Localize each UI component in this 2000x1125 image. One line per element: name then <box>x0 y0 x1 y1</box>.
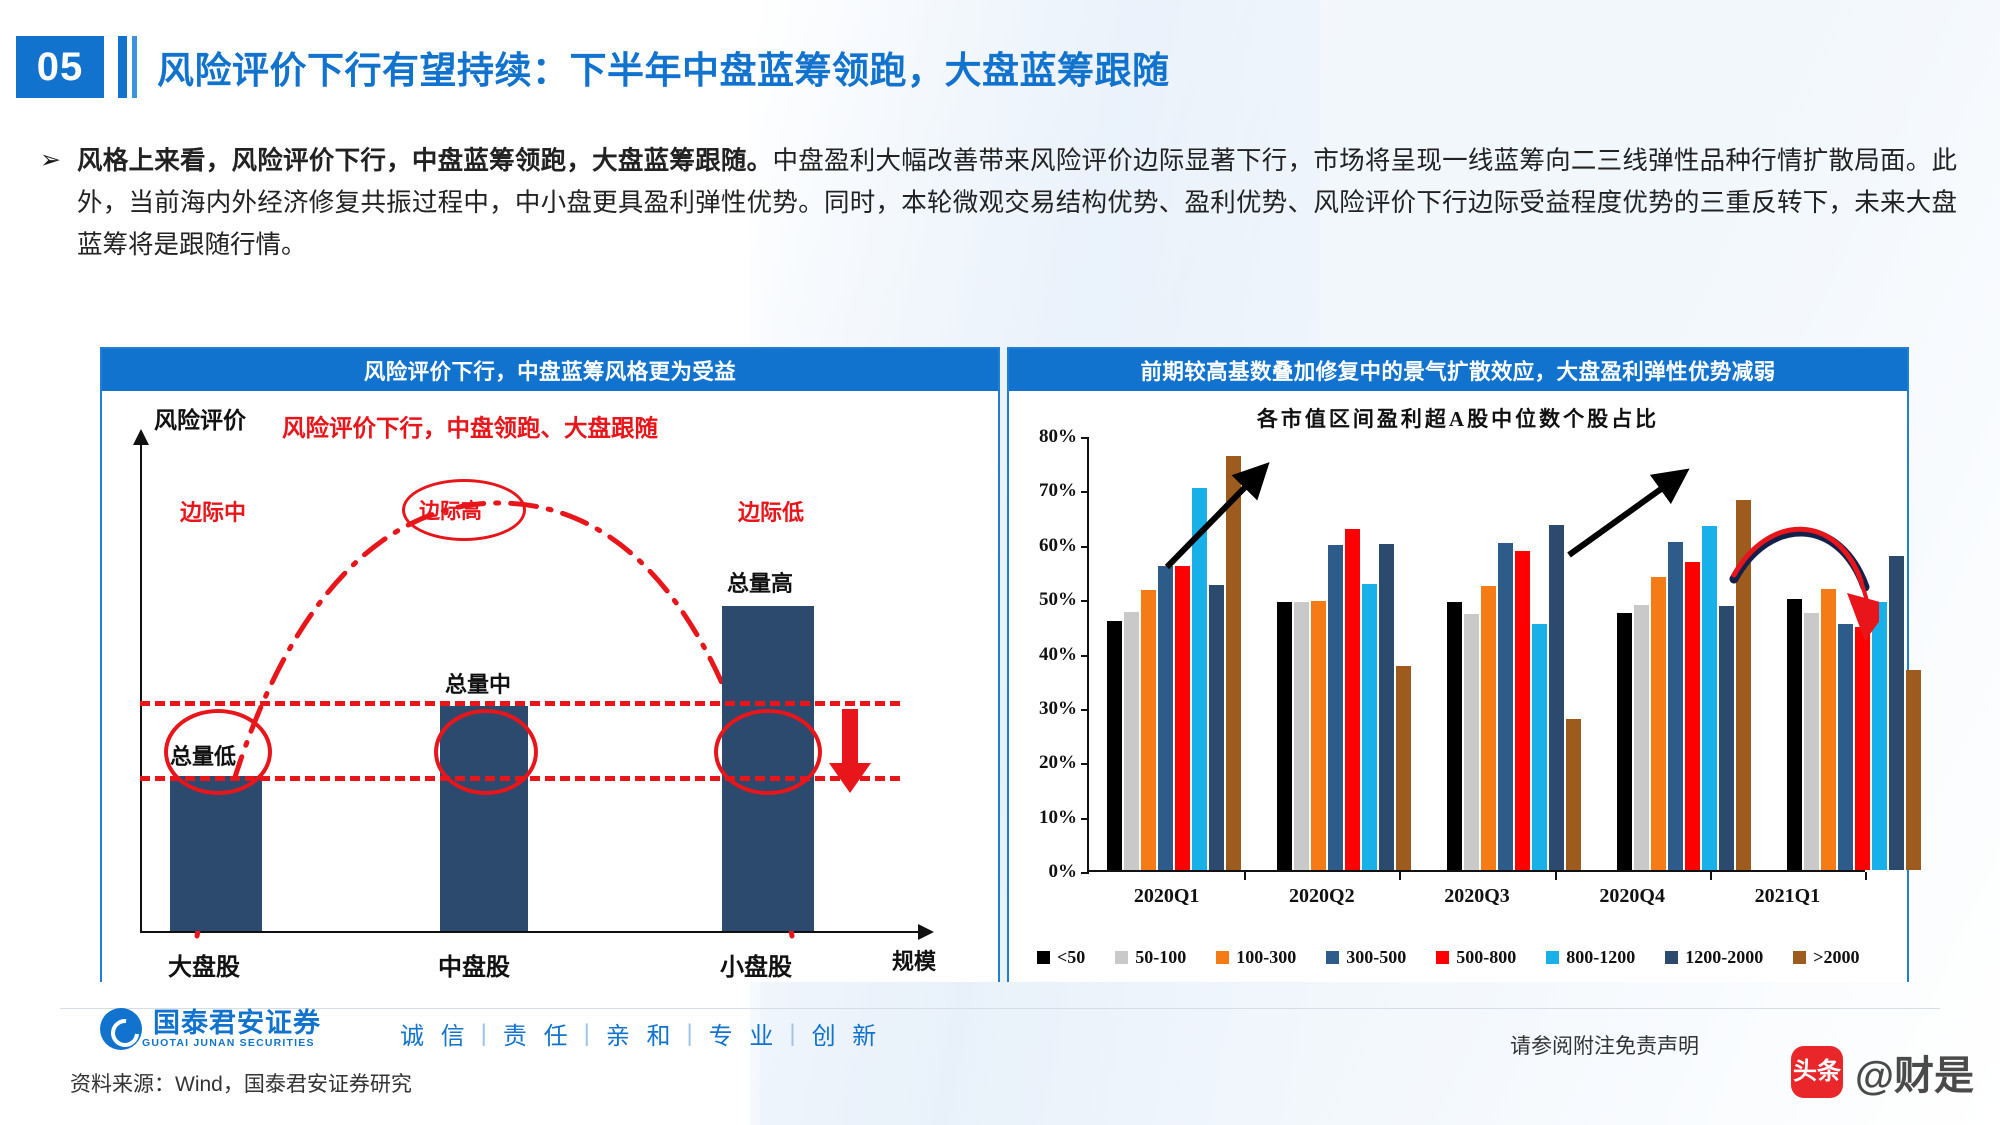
y-tick-label: 0% <box>1049 861 1090 883</box>
legend-item[interactable]: 1200-2000 <box>1665 947 1763 968</box>
y-tick-label: 30% <box>1039 698 1089 720</box>
bar-500-800 <box>1855 627 1870 870</box>
legend-swatch-icon <box>1037 951 1050 964</box>
body-block: ➢ 风格上来看，风险评价下行，中盘蓝筹领跑，大盘蓝筹跟随。中盘盈利大幅改善带来风… <box>40 140 1970 266</box>
x-axis-tick <box>1244 872 1246 880</box>
legend-swatch-icon <box>1793 951 1806 964</box>
bar-800-1200 <box>1532 624 1547 870</box>
legend-swatch-icon <box>1326 951 1339 964</box>
logo-name-en: GUOTAI JUNAN SECURITIES <box>142 1037 321 1049</box>
bar-300-500 <box>1838 624 1853 870</box>
bar-800-1200 <box>1192 488 1207 870</box>
left-panel-heading: 风险评价下行，中盘蓝筹风格更为受益 <box>102 349 998 391</box>
x-tick-label: 2020Q4 <box>1599 885 1665 908</box>
concept-bar-large-cap <box>170 776 262 931</box>
x-tick-small-cap: 小盘股 <box>720 947 792 982</box>
header-rule-thick <box>118 36 127 98</box>
page-title: 风险评价下行有望持续：下半年中盘蓝筹领跑，大盘蓝筹跟随 <box>157 40 1170 94</box>
y-tick-label: 70% <box>1039 480 1089 502</box>
bar-100-300 <box>1481 586 1496 870</box>
bar-500-800 <box>1685 562 1700 870</box>
bar-100-300 <box>1311 601 1326 870</box>
y-tick-label: 10% <box>1039 807 1089 829</box>
highlight-circle-mid-cap <box>434 709 538 795</box>
bullet-icon: ➢ <box>40 140 64 181</box>
header-rule-thin <box>132 36 137 98</box>
bar-500-800 <box>1175 566 1190 871</box>
bar-300-500 <box>1668 542 1683 870</box>
x-tick-mid-cap: 中盘股 <box>438 947 510 982</box>
chart-legend: <5050-100100-300300-500500-800800-120012… <box>1025 947 1891 968</box>
y-tick-label: 80% <box>1039 426 1089 448</box>
body-lead-bold: 风格上来看，风险评价下行，中盘蓝筹领跑，大盘蓝筹跟随。 <box>77 147 772 175</box>
y-axis-label: 风险评价 <box>154 401 246 435</box>
highlight-ellipse-high <box>402 479 526 541</box>
bar-300-500 <box>1158 566 1173 870</box>
legend-item[interactable]: >2000 <box>1793 947 1859 968</box>
right-panel-body: 各市值区间盈利超A股中位数个股占比 0%10%20%30%40%50%60%70… <box>1009 391 1907 982</box>
bar-1200-2000 <box>1209 585 1224 870</box>
slogan-word: 创 新 <box>812 1016 882 1051</box>
legend-item[interactable]: 300-500 <box>1326 947 1406 968</box>
x-tick-label: 2021Q1 <box>1755 885 1821 908</box>
bar-1200-2000 <box>1379 544 1394 870</box>
slogan-word: 责 任 <box>503 1016 573 1051</box>
right-chart-panel: 前期较高基数叠加修复中的景气扩散效应，大盘盈利弹性优势减弱 各市值区间盈利超A股… <box>1007 347 1909 982</box>
bar-1200-2000 <box>1549 525 1564 870</box>
column-label-mid: 总量中 <box>445 667 511 699</box>
source-note: 资料来源：Wind，国泰君安证券研究 <box>70 1068 412 1098</box>
bar-<50 <box>1617 613 1632 870</box>
watermark-text: @财是 <box>1855 1043 1974 1101</box>
bar-group <box>1769 437 1939 870</box>
legend-swatch-icon <box>1436 951 1449 964</box>
y-tick-label: 20% <box>1039 752 1089 774</box>
highlight-circle-small-cap <box>714 709 822 795</box>
legend-label: 50-100 <box>1135 947 1186 968</box>
slogan-separator: | <box>789 1020 800 1048</box>
legend-label: 800-1200 <box>1566 947 1635 968</box>
x-axis-tick <box>1710 872 1712 880</box>
legend-label: 500-800 <box>1456 947 1516 968</box>
x-axis-tick <box>1555 872 1557 880</box>
slide-header: 05 风险评价下行有望持续：下半年中盘蓝筹领跑，大盘蓝筹跟随 <box>16 36 1170 98</box>
bar->2000 <box>1566 719 1581 870</box>
down-arrow-icon <box>842 709 858 763</box>
slogan-separator: | <box>686 1020 697 1048</box>
bar-50-100 <box>1124 612 1139 870</box>
x-axis-tick <box>1865 872 1867 880</box>
y-tick-label: 40% <box>1039 644 1089 666</box>
slogan-separator: | <box>584 1020 595 1048</box>
y-axis-line <box>140 443 142 933</box>
legend-item[interactable]: 800-1200 <box>1546 947 1635 968</box>
legend-label: 100-300 <box>1236 947 1296 968</box>
legend-label: >2000 <box>1813 947 1859 968</box>
bar-group <box>1599 437 1769 870</box>
legend-label: 1200-2000 <box>1685 947 1763 968</box>
x-tick-label: 2020Q1 <box>1134 885 1200 908</box>
bar->2000 <box>1736 500 1751 870</box>
bar-500-800 <box>1345 529 1360 870</box>
bar-chart-plot-area: 0%10%20%30%40%50%60%70%80% 2020Q12020Q22… <box>1087 437 1865 872</box>
x-axis-tick <box>1399 872 1401 880</box>
annotation-main: 风险评价下行，中盘领跑、大盘跟随 <box>282 409 658 443</box>
bar-1200-2000 <box>1719 606 1734 870</box>
bar-800-1200 <box>1702 526 1717 870</box>
y-tick-label: 50% <box>1039 589 1089 611</box>
bar-100-300 <box>1821 589 1836 870</box>
slogan-word: 亲 和 <box>606 1016 676 1051</box>
x-axis-line <box>140 931 920 933</box>
disclaimer-note: 请参阅附注免责声明 <box>1510 1030 1699 1060</box>
x-tick-label: 2020Q2 <box>1289 885 1355 908</box>
logo-mark-icon <box>100 1008 142 1050</box>
bar-<50 <box>1787 599 1802 870</box>
body-paragraph: 风格上来看，风险评价下行，中盘蓝筹领跑，大盘蓝筹跟随。中盘盈利大幅改善带来风险评… <box>77 140 1957 266</box>
bar->2000 <box>1906 670 1921 870</box>
bar-800-1200 <box>1872 602 1887 870</box>
bar-300-500 <box>1328 545 1343 870</box>
annotation-marginal-low: 边际低 <box>738 495 804 527</box>
bar-group <box>1089 437 1259 870</box>
bullet-row: ➢ 风格上来看，风险评价下行，中盘蓝筹领跑，大盘蓝筹跟随。中盘盈利大幅改善带来风… <box>40 140 1970 266</box>
footer-divider <box>60 1008 1940 1009</box>
bar-1200-2000 <box>1889 556 1904 870</box>
legend-swatch-icon <box>1546 951 1559 964</box>
bar->2000 <box>1226 456 1241 870</box>
section-number-badge: 05 <box>16 36 104 98</box>
right-panel-heading: 前期较高基数叠加修复中的景气扩散效应，大盘盈利弹性优势减弱 <box>1009 349 1907 391</box>
legend-item[interactable]: <50 <box>1037 947 1085 968</box>
legend-item[interactable]: 500-800 <box>1436 947 1516 968</box>
bar-300-500 <box>1498 543 1513 870</box>
company-logo: 国泰君安证券 GUOTAI JUNAN SECURITIES <box>100 1008 321 1050</box>
bar-500-800 <box>1515 551 1530 870</box>
slogan-separator: | <box>481 1020 492 1048</box>
bar-800-1200 <box>1362 584 1377 870</box>
annotation-marginal-mid: 边际中 <box>180 495 246 527</box>
y-tick-label: 60% <box>1039 535 1089 557</box>
bar-100-300 <box>1651 577 1666 870</box>
bar-group <box>1259 437 1429 870</box>
slogan-word: 专 业 <box>709 1016 779 1051</box>
bar-50-100 <box>1294 602 1309 870</box>
legend-swatch-icon <box>1115 951 1128 964</box>
legend-swatch-icon <box>1216 951 1229 964</box>
company-slogan: 诚 信|责 任|亲 和|专 业|创 新 <box>400 1016 881 1051</box>
legend-label: <50 <box>1057 947 1085 968</box>
x-axis-label: 规模 <box>892 944 936 976</box>
legend-item[interactable]: 50-100 <box>1115 947 1186 968</box>
legend-swatch-icon <box>1665 951 1678 964</box>
bar-<50 <box>1107 621 1122 870</box>
watermark-badge: 头条 <box>1791 1046 1843 1098</box>
column-label-high: 总量高 <box>727 566 793 598</box>
bar-50-100 <box>1464 614 1479 870</box>
logo-name-cn: 国泰君安证券 <box>153 1009 321 1037</box>
bar-<50 <box>1447 602 1462 870</box>
threshold-line-upper <box>140 701 900 706</box>
bar-50-100 <box>1804 613 1819 870</box>
legend-item[interactable]: 100-300 <box>1216 947 1296 968</box>
bar-groups <box>1089 437 1865 870</box>
slogan-word: 诚 信 <box>400 1016 470 1051</box>
x-tick-label: 2020Q3 <box>1444 885 1510 908</box>
chart-title: 各市值区间盈利超A股中位数个股占比 <box>1009 403 1907 433</box>
bar-50-100 <box>1634 605 1649 870</box>
highlight-circle-large-cap <box>164 709 272 795</box>
watermark: 头条 @财是 <box>1791 1043 1974 1101</box>
bar-100-300 <box>1141 590 1156 870</box>
left-panel-body: 风险评价 规模 风险评价下行，中盘领跑、大盘跟随 边际中 边际高 边际低 总量高… <box>102 391 998 982</box>
bar-<50 <box>1277 602 1292 870</box>
left-chart-panel: 风险评价下行，中盘蓝筹风格更为受益 风险评价 规模 风险评价下行，中盘领跑、大盘… <box>100 347 1000 982</box>
legend-label: 300-500 <box>1346 947 1406 968</box>
bar-group <box>1429 437 1599 870</box>
x-tick-large-cap: 大盘股 <box>168 947 240 982</box>
bar->2000 <box>1396 666 1411 870</box>
